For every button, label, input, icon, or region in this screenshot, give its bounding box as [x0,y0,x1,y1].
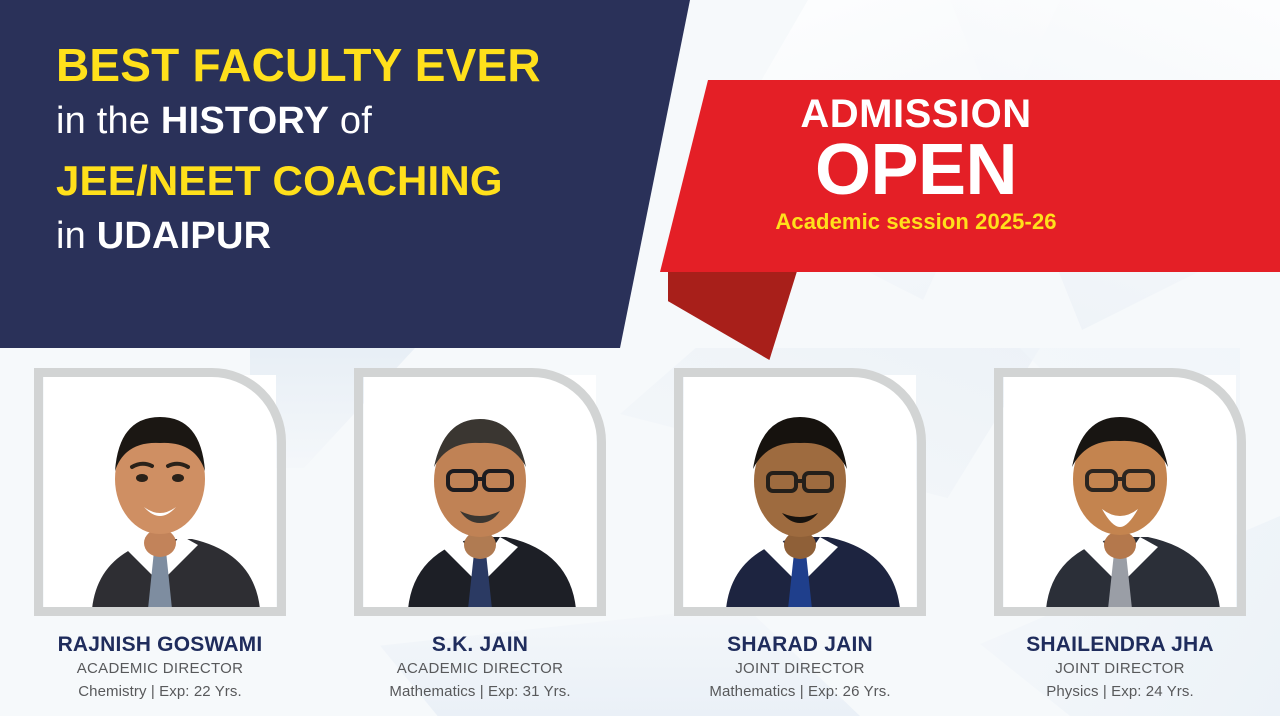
faculty-row: RAJNISH GOSWAMI ACADEMIC DIRECTOR Chemis… [0,348,1280,716]
faculty-role: ACADEMIC DIRECTOR [0,658,320,681]
faculty-photo-frame [994,368,1246,616]
faculty-caption: SHARAD JAIN JOINT DIRECTOR Mathematics |… [640,632,960,702]
headline-line-3: JEE/NEET COACHING [56,159,676,203]
headline-block: BEST FACULTY EVER in the HISTORY of JEE/… [56,42,676,257]
faculty-name: SHARAD JAIN [640,632,960,657]
faculty-subject-experience: Mathematics | Exp: 31 Yrs. [320,681,640,703]
headline-line-2: in the HISTORY of [56,102,676,142]
faculty-name: S.K. JAIN [320,632,640,657]
headline-line-4-emphasis: UDAIPUR [97,215,272,257]
ribbon-title-top: ADMISSION [660,94,1172,134]
ribbon-fold-shadow [668,268,798,360]
faculty-photo-frame [34,368,286,616]
headline-line-4-prefix: in [56,215,97,257]
headline-line-2-prefix: in the [56,100,161,142]
headline-line-2-suffix: of [329,100,372,142]
faculty-role: ACADEMIC DIRECTOR [320,658,640,681]
faculty-caption: RAJNISH GOSWAMI ACADEMIC DIRECTOR Chemis… [0,632,320,702]
faculty-card: RAJNISH GOSWAMI ACADEMIC DIRECTOR Chemis… [0,348,320,716]
faculty-subject-experience: Mathematics | Exp: 26 Yrs. [640,681,960,703]
faculty-subject-experience: Physics | Exp: 24 Yrs. [960,681,1280,703]
banner-canvas: BEST FACULTY EVER in the HISTORY of JEE/… [0,0,1280,716]
faculty-card: SHARAD JAIN JOINT DIRECTOR Mathematics |… [640,348,960,716]
faculty-name: RAJNISH GOSWAMI [0,632,320,657]
faculty-card: S.K. JAIN ACADEMIC DIRECTOR Mathematics … [320,348,640,716]
faculty-photo-frame [354,368,606,616]
headline-line-4: in UDAIPUR [56,217,676,257]
ribbon-session-label: Academic session 2025-26 [660,211,1172,233]
faculty-role: JOINT DIRECTOR [960,658,1280,681]
faculty-photo-frame [674,368,926,616]
faculty-caption: S.K. JAIN ACADEMIC DIRECTOR Mathematics … [320,632,640,702]
headline-line-1: BEST FACULTY EVER [56,42,676,90]
faculty-card: SHAILENDRA JHA JOINT DIRECTOR Physics | … [960,348,1280,716]
faculty-subject-experience: Chemistry | Exp: 22 Yrs. [0,681,320,703]
faculty-caption: SHAILENDRA JHA JOINT DIRECTOR Physics | … [960,632,1280,702]
faculty-name: SHAILENDRA JHA [960,632,1280,657]
admission-ribbon: ADMISSION OPEN Academic session 2025-26 [660,80,1280,272]
faculty-role: JOINT DIRECTOR [640,658,960,681]
headline-line-2-emphasis: HISTORY [161,100,329,142]
ribbon-title-bottom: OPEN [660,136,1172,205]
